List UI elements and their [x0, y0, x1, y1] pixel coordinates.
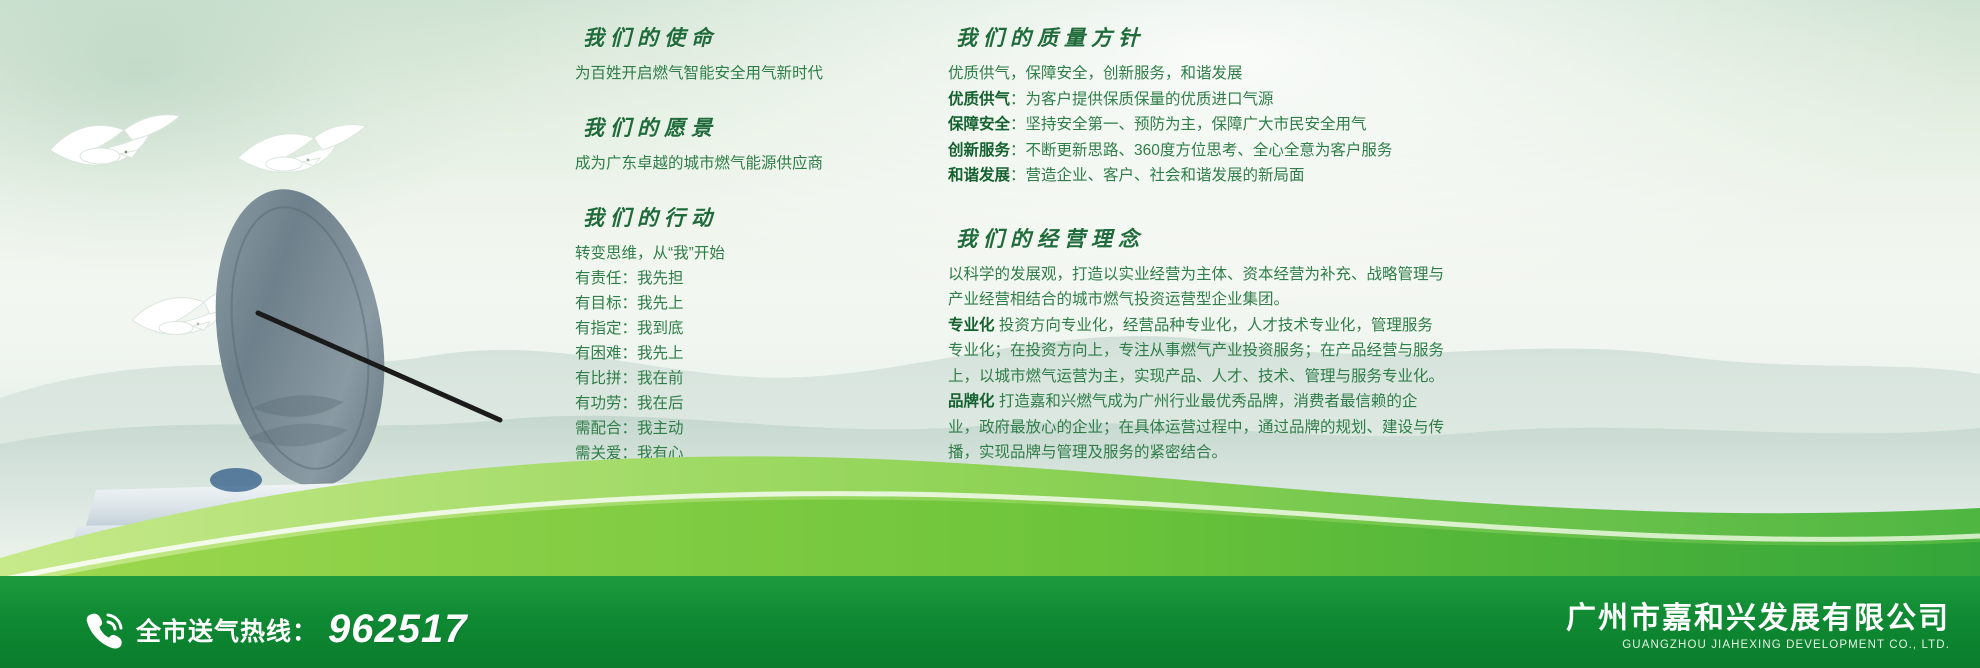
section-title-quality-policy: 我们的质量方针 [956, 22, 1448, 52]
action-line: 有指定：我到底 [575, 316, 915, 341]
quality-policy-text: ：不断更新思路、360度方位思考、全心全意为客户服务 [1010, 142, 1392, 159]
core-value-text: ：永恒创新，精细不止 [606, 535, 761, 552]
business-philosophy-key: 品牌化 [948, 393, 995, 410]
quality-policy-item: 创新服务：不断更新思路、360度方位思考、全心全意为客户服务 [948, 138, 1448, 164]
mission-line: 为百姓开启燃气智能安全用气新时代 [575, 61, 915, 86]
section-title-action: 我们的行动 [583, 202, 915, 232]
phone-icon [82, 608, 126, 652]
hotline-label: 全市送气热线： [136, 612, 318, 648]
quality-policy-text: ：为客户提供保质保量的优质进口气源 [1010, 91, 1274, 108]
section-title-culture-core: 企业文化核心理念 [956, 500, 1448, 530]
action-line: 有责任：我先担 [575, 266, 915, 291]
hotline-block: 全市送气热线： 962517 [82, 607, 468, 652]
poster-canvas: 我们的使命 为百姓开启燃气智能安全用气新时代 我们的愿景 成为广东卓越的城市燃气… [0, 0, 1980, 668]
quality-policy-text: ：营造企业、客户、社会和谐发展的新局面 [1010, 167, 1305, 184]
quality-policy-text: ：坚持安全第一、预防为主，保障广大市民安全用气 [1010, 116, 1367, 133]
company-name-cn: 广州市嘉和兴发展有限公司 [1566, 602, 1950, 636]
action-line: 转变思维，从“我”开始 [575, 241, 915, 266]
right-text-column: 我们的质量方针 优质供气，保障安全，创新服务，和谐发展 优质供气：为客户提供保质… [948, 22, 1448, 564]
action-line: 需配合：我主动 [575, 416, 915, 441]
company-brand-block: 广州市嘉和兴发展有限公司 GUANGZHOU JIAHEXING DEVELOP… [1566, 602, 1950, 654]
section-title-business-philosophy: 我们的经营理念 [956, 223, 1448, 253]
section-title-core-values: 我们的核心价值观 [583, 492, 915, 522]
vision-line: 成为广东卓越的城市燃气能源供应商 [575, 151, 915, 176]
hotline-number: 962517 [328, 607, 467, 652]
core-value-key: 创新 [575, 535, 606, 552]
section-title-vision: 我们的愿景 [583, 112, 915, 142]
quality-policy-key: 和谐发展 [948, 167, 1010, 184]
action-line: 有目标：我先上 [575, 291, 915, 316]
action-line: 需关爱：我有心 [575, 441, 915, 466]
dove-icon [28, 100, 208, 190]
quality-policy-key: 保障安全 [948, 116, 1010, 133]
quality-policy-key: 优质供气 [948, 91, 1010, 108]
middle-text-column: 我们的使命 为百姓开启燃气智能安全用气新时代 我们的愿景 成为广东卓越的城市燃气… [575, 22, 915, 606]
action-line: 有比拼：我在前 [575, 366, 915, 391]
quality-policy-item: 和谐发展：营造企业、客户、社会和谐发展的新局面 [948, 163, 1448, 189]
business-philosophy-text: 打造嘉和兴燃气成为广州行业最优秀品牌，消费者最信赖的企业，政府最放心的企业；在具… [948, 393, 1444, 461]
core-value-text: ：和谐共赢 [606, 560, 684, 577]
business-philosophy-key: 专业化 [948, 317, 995, 334]
quality-policy-item: 优质供气：为客户提供保质保量的优质进口气源 [948, 87, 1448, 113]
company-name-en: GUANGZHOU JIAHEXING DEVELOPMENT CO., LTD… [1566, 636, 1950, 654]
business-philosophy-text: 投资方向专业化，经营品种专业化，人才技术专业化，管理服务专业化；在投资方向上，专… [948, 317, 1444, 385]
culture-core-line: 安全供气 追求卓越 创新发展 和谐共进 [948, 539, 1448, 565]
quality-policy-key: 创新服务 [948, 142, 1010, 159]
quality-policy-item: 保障安全：坚持安全第一、预防为主，保障广大市民安全用气 [948, 112, 1448, 138]
quality-policy-summary: 优质供气，保障安全，创新服务，和谐发展 [948, 61, 1448, 87]
section-title-mission: 我们的使命 [583, 22, 915, 52]
core-value-item: 创新：永恒创新，精细不止 [575, 531, 915, 556]
dove-icon [118, 278, 268, 358]
core-value-key: 和谐 [575, 560, 606, 577]
business-philosophy-intro: 以科学的发展观，打造以实业经营为主体、资本经营为补充、战略管理与产业经营相结合的… [948, 262, 1448, 313]
business-philosophy-item: 专业化 投资方向专业化，经营品种专业化，人才技术专业化，管理服务专业化；在投资方… [948, 313, 1448, 390]
action-line: 有困难：我先上 [575, 341, 915, 366]
business-philosophy-item: 品牌化 打造嘉和兴燃气成为广州行业最优秀品牌，消费者最信赖的企业，政府最放心的企… [948, 389, 1448, 466]
dove-icon [222, 112, 382, 198]
action-line: 有功劳：我在后 [575, 391, 915, 416]
